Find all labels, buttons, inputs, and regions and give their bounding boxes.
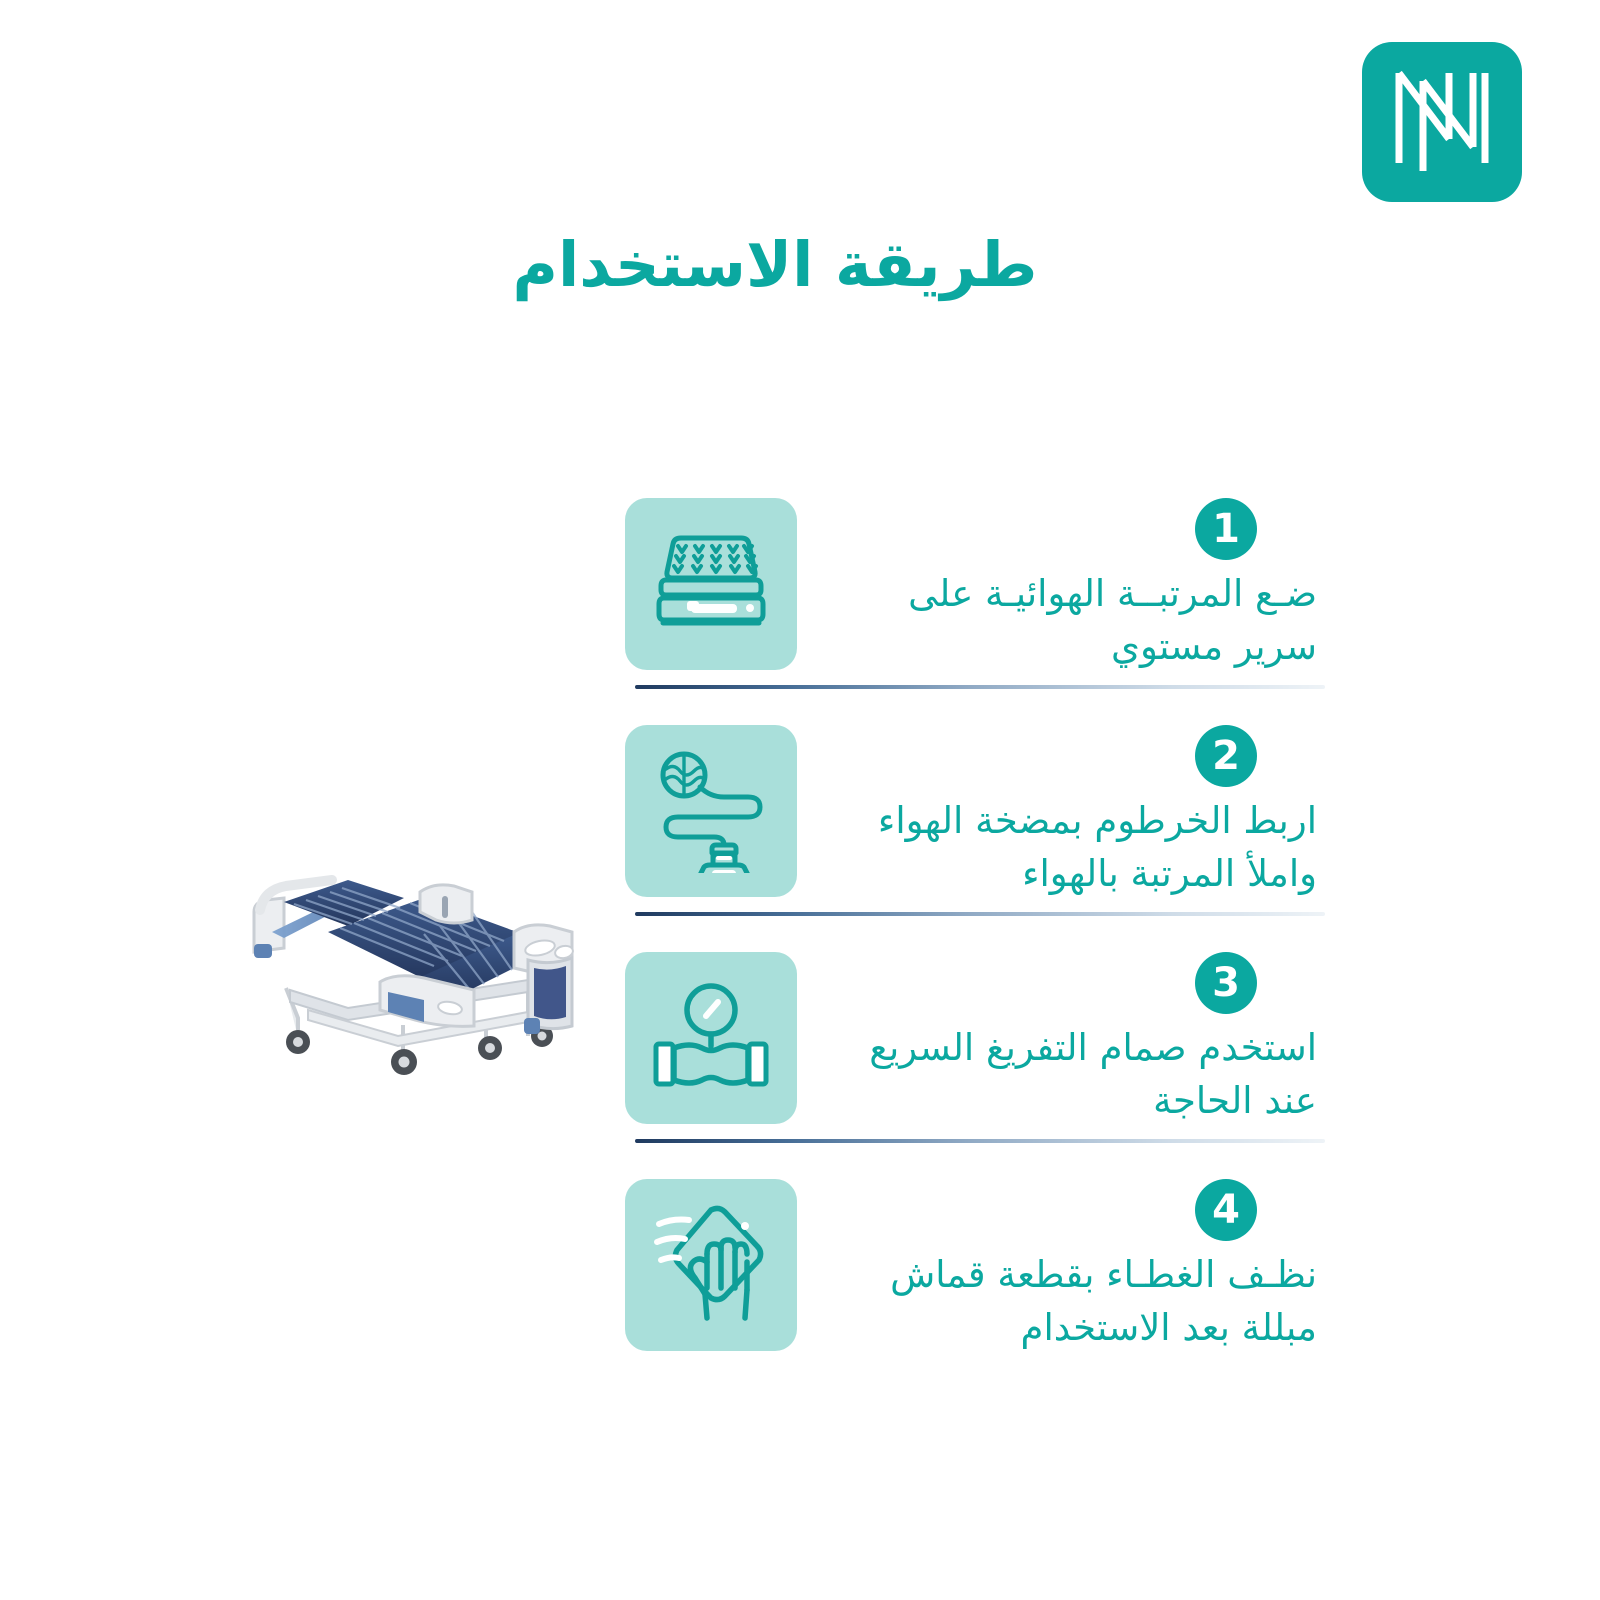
step-text: نظـف الغطـاء بقطعة قماش مبللة بعد الاستخ… [815, 1249, 1325, 1354]
infographic-page: طريقة الاستخدام [0, 0, 1600, 1600]
brand-logo [1362, 42, 1522, 202]
nupco-logo-mark [1387, 67, 1497, 177]
step-divider [635, 1139, 1325, 1143]
step-item-1: 1 ضـع المرتبــة الهوائيـة على سرير مستوي [625, 498, 1325, 703]
step-divider [635, 685, 1325, 689]
step-number-badge: 3 [1195, 952, 1257, 1014]
product-image-hospital-bed [228, 840, 588, 1090]
step-number-badge: 2 [1195, 725, 1257, 787]
step-item-2: 2 اربط الخرطوم بمضخة الهواء واملأ المرتب… [625, 725, 1325, 930]
air-mattress-icon-glyph [651, 528, 771, 640]
steps-list: 1 ضـع المرتبــة الهوائيـة على سرير مستوي [625, 498, 1325, 1368]
step-text: استخدم صمام التفريغ السريع عند الحاجة [815, 1022, 1325, 1127]
page-title: طريقة الاستخدام [0, 228, 1600, 301]
quick-release-valve-icon-glyph [650, 980, 772, 1096]
hand-wiping-cloth-icon [625, 1179, 797, 1351]
hospital-bed-air-mattress-illustration [228, 840, 588, 1090]
step-number-badge: 1 [1195, 498, 1257, 560]
air-mattress-icon [625, 498, 797, 670]
step-text: اربط الخرطوم بمضخة الهواء واملأ المرتبة … [815, 795, 1325, 900]
hose-air-pump-icon [625, 725, 797, 897]
hand-wiping-cloth-icon-glyph [649, 1202, 773, 1328]
quick-release-valve-icon [625, 952, 797, 1124]
step-number-badge: 4 [1195, 1179, 1257, 1241]
step-divider [635, 912, 1325, 916]
step-text: ضـع المرتبــة الهوائيـة على سرير مستوي [815, 568, 1325, 673]
hose-air-pump-icon-glyph [652, 749, 770, 873]
step-item-3: 3 استخدم صمام التفريغ السريع عند الحاجة [625, 952, 1325, 1157]
step-item-4: 4 نظـف الغطـاء بقطعة قماش مبللة بعد الاس… [625, 1179, 1325, 1368]
